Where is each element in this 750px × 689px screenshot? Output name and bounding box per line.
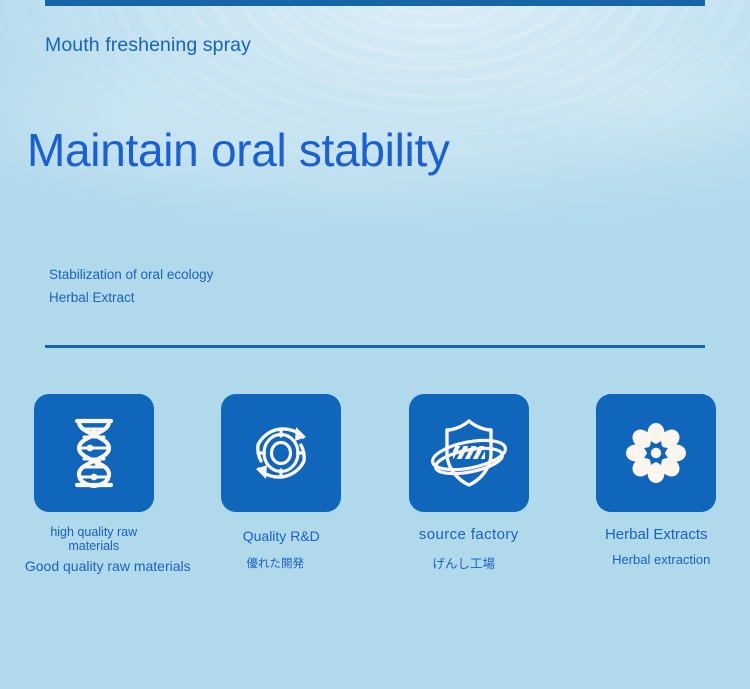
feature-subcaption: げんし工場	[432, 553, 495, 572]
promo-banner-page: Mouth freshening spray Maintain oral sta…	[0, 0, 750, 689]
page-title: Maintain oral stability	[27, 126, 450, 174]
feature-subcaption: 優れた開発	[247, 555, 305, 571]
feature-icon-tile[interactable]	[409, 394, 529, 512]
feature-caption: Herbal Extracts	[605, 527, 708, 544]
feature-caption: source factory	[419, 527, 519, 544]
feature-icon-tile[interactable]	[221, 394, 341, 512]
feature-list: high quality raw materials Good quality …	[0, 394, 750, 574]
feature-caption: high quality raw materials	[50, 525, 137, 553]
feature-item-raw-materials[interactable]: high quality raw materials Good quality …	[0, 394, 188, 574]
feature-item-herbal-extracts[interactable]: Herbal Extracts Herbal extraction	[563, 394, 750, 574]
dna-helix-icon	[63, 417, 125, 489]
product-eyebrow-label: Mouth freshening spray	[45, 34, 251, 57]
research-target-icon	[243, 415, 319, 491]
lead-line-1: Stabilization of oral ecology	[49, 263, 213, 286]
feature-caption: Quality R&D	[243, 529, 320, 545]
feature-item-quality-rd[interactable]: Quality R&D 優れた開発	[188, 394, 376, 574]
lead-paragraph: Stabilization of oral ecology Herbal Ext…	[49, 263, 213, 309]
herbal-flower-icon	[623, 420, 689, 486]
section-divider-rule	[45, 345, 705, 348]
feature-icon-tile[interactable]	[34, 394, 154, 512]
feature-icon-tile[interactable]	[596, 394, 716, 512]
feature-item-source-factory[interactable]: source factory げんし工場	[375, 394, 563, 574]
shield-orbit-icon	[428, 415, 510, 491]
feature-subcaption: Good quality raw materials	[25, 558, 191, 574]
top-divider-rule	[45, 0, 705, 6]
feature-subcaption: Herbal extraction	[612, 552, 710, 567]
lead-line-2: Herbal Extract	[49, 286, 213, 309]
